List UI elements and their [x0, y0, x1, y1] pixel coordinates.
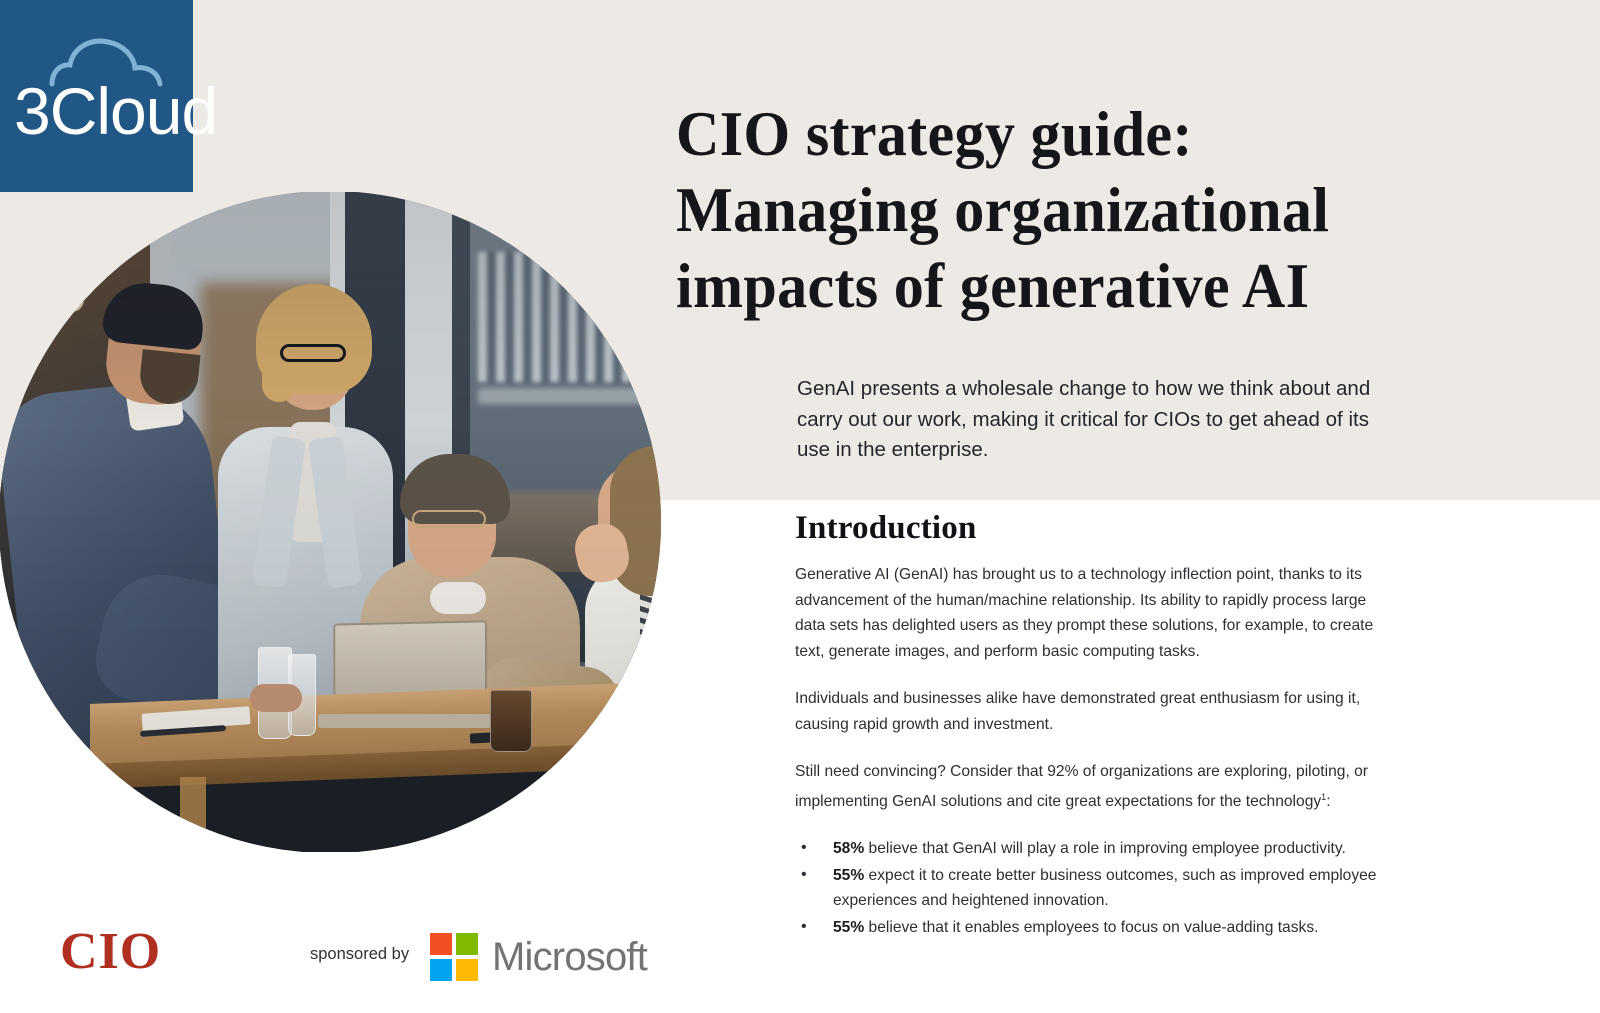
section-heading-introduction: Introduction [795, 508, 977, 548]
intro-paragraph-3-text: Still need convincing? Consider that 92%… [795, 763, 1368, 810]
hero-photo [0, 192, 700, 852]
page-title-line-3: impacts of generative AI [676, 248, 1409, 324]
photo-pendant-lamp-3 [12, 228, 30, 246]
intro-paragraph-2: Individuals and businesses alike have de… [795, 686, 1385, 737]
cio-logo: CIO [60, 922, 161, 981]
page-title-line-2: Managing organizational [676, 172, 1409, 248]
stat-value: 58% [833, 840, 864, 857]
page-title: CIO strategy guide: Managing organizatio… [676, 96, 1456, 324]
page-subtitle: GenAI presents a wholesale change to how… [797, 374, 1397, 466]
stat-text: expect it to create better business outc… [833, 867, 1376, 910]
photo-overlay-gradient [0, 192, 700, 852]
hero-photo-circle-mask [0, 192, 700, 852]
microsoft-wordmark: Microsoft [492, 937, 647, 977]
list-item: 58% believe that GenAI will play a role … [795, 836, 1385, 862]
microsoft-square-green [456, 933, 478, 955]
photo-pendant-lamp-1 [36, 204, 70, 238]
document-page: 3Cloud [0, 0, 1600, 1013]
microsoft-square-red [430, 933, 452, 955]
photo-chair [0, 792, 120, 852]
stat-value: 55% [833, 919, 864, 936]
sponsored-by-label: sponsored by [310, 945, 409, 964]
microsoft-square-yellow [456, 959, 478, 981]
intro-paragraph-3: Still need convincing? Consider that 92%… [795, 759, 1385, 814]
list-item: 55% expect it to create better business … [795, 863, 1385, 914]
3cloud-logo: 3Cloud [0, 0, 193, 192]
introduction-body: Generative AI (GenAI) has brought us to … [795, 562, 1385, 941]
3cloud-logo-text: 3Cloud [14, 78, 186, 144]
stat-text: believe that GenAI will play a role in i… [864, 840, 1346, 857]
intro-paragraph-1: Generative AI (GenAI) has brought us to … [795, 562, 1385, 664]
microsoft-square-blue [430, 959, 452, 981]
statistics-list: 58% believe that GenAI will play a role … [795, 836, 1385, 940]
list-item: 55% believe that it enables employees to… [795, 915, 1385, 941]
intro-paragraph-3-colon: : [1326, 793, 1330, 810]
stat-value: 55% [833, 867, 864, 884]
page-title-line-1: CIO strategy guide: [676, 96, 1409, 172]
stat-text: believe that it enables employees to foc… [864, 919, 1318, 936]
microsoft-logo: Microsoft [430, 933, 647, 981]
microsoft-squares-icon [430, 933, 478, 981]
